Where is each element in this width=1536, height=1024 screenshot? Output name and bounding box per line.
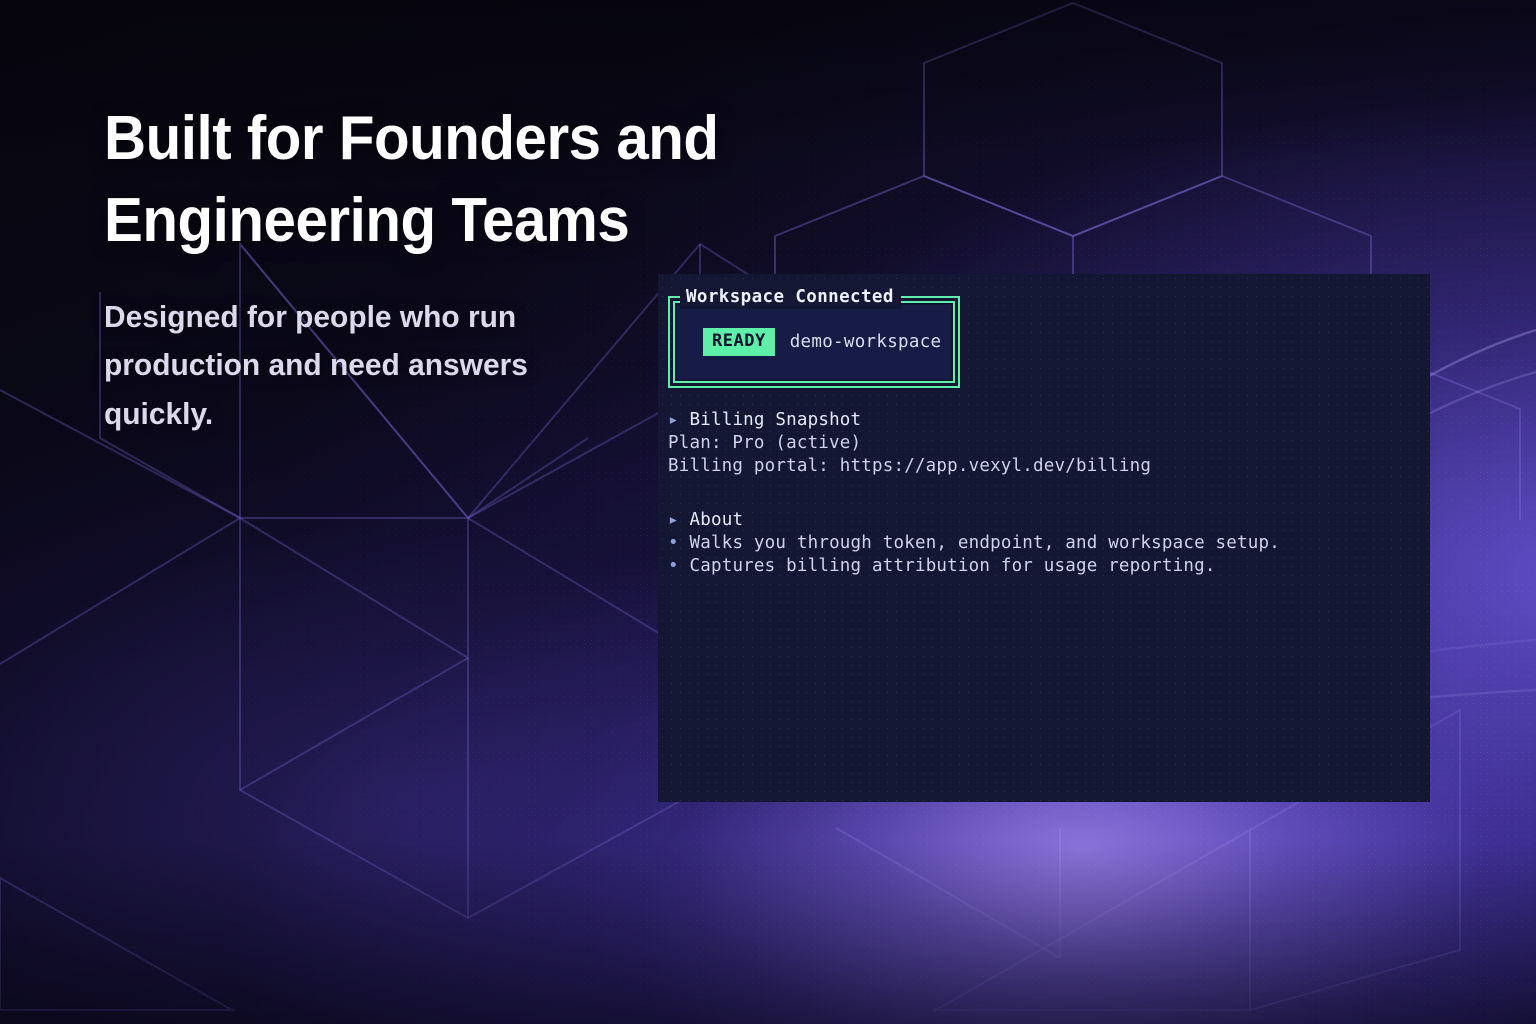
triangle-bullet-icon: ▸ [668,510,679,530]
list-item: • Captures billing attribution for usage… [668,555,1410,578]
list-item-label: Walks you through token, endpoint, and w… [690,533,1280,553]
status-badge: READY [703,328,775,356]
page-subtitle: Designed for people who run production a… [104,293,606,438]
billing-portal-line: Billing portal: https://app.vexyl.dev/bi… [668,455,1410,478]
page-title: Built for Founders and Engineering Teams [104,98,762,263]
dot-bullet-icon: • [668,556,679,576]
dot-bullet-icon: • [668,533,679,553]
terminal-panel: Workspace Connected READY demo-workspace… [658,274,1430,802]
about-section: ▸ About • Walks you through token, endpo… [668,509,1410,578]
billing-snapshot-section: ▸ Billing Snapshot Plan: Pro (active) Bi… [668,409,1410,478]
workspace-connected-banner: Workspace Connected READY demo-workspace [668,296,960,388]
list-item: • Walks you through token, endpoint, and… [668,532,1410,555]
hero-slide: Built for Founders and Engineering Teams… [0,0,1536,1024]
section-heading: ▸ About [668,509,1410,532]
list-item-label: Captures billing attribution for usage r… [690,556,1216,576]
triangle-bullet-icon: ▸ [668,410,679,430]
billing-plan-line: Plan: Pro (active) [668,432,1410,455]
section-heading-label: About [690,510,744,530]
section-heading: ▸ Billing Snapshot [668,409,1410,432]
workspace-name-label: demo-workspace [790,331,942,354]
section-heading-label: Billing Snapshot [690,410,862,430]
banner-body: READY demo-workspace [677,305,951,379]
terminal-content: Workspace Connected READY demo-workspace… [658,274,1430,578]
banner-title: Workspace Connected [680,286,901,309]
banner-inner-frame: READY demo-workspace [673,301,955,383]
